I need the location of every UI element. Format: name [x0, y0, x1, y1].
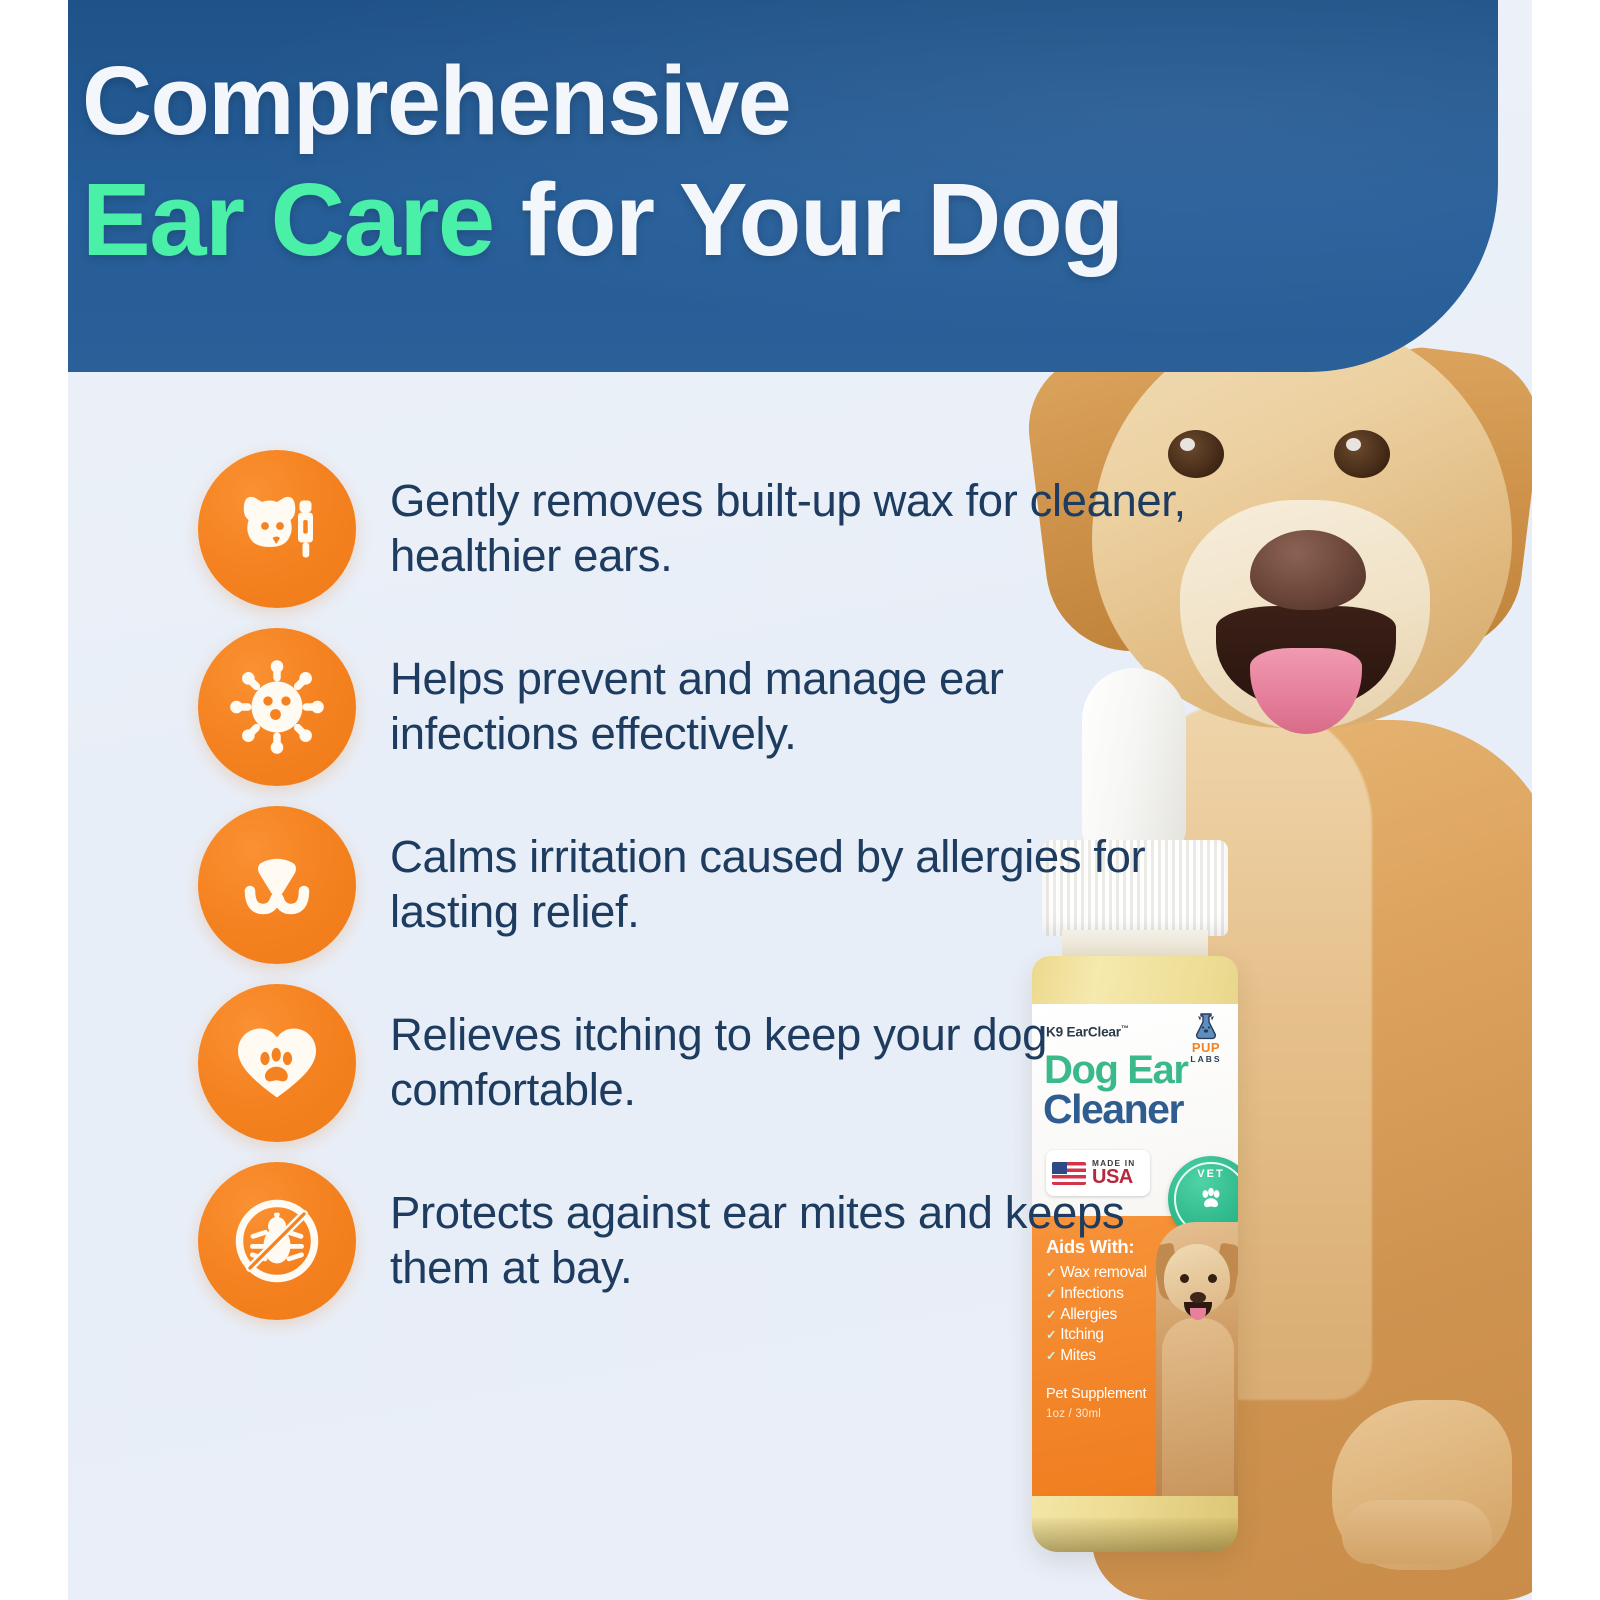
- headline-accent-text: Ear Care: [82, 162, 494, 277]
- dog-nose-icon: [198, 806, 356, 964]
- dog-dropper-glyph: [229, 481, 325, 577]
- label-dog-nose: [1190, 1292, 1206, 1303]
- heart-paw-icon: [198, 984, 356, 1142]
- no-mites-glyph: [229, 1193, 325, 1289]
- no-mites-icon: [198, 1162, 356, 1320]
- headline-line-1: Comprehensive: [82, 52, 1382, 151]
- heart-paw-glyph: [229, 1015, 325, 1111]
- dog-eye-right: [1334, 430, 1390, 478]
- pet-supplement-label: Pet Supplement: [1046, 1386, 1146, 1402]
- benefit-text: Helps prevent and manage ear infections …: [390, 652, 1186, 761]
- benefits-list: Gently removes built-up wax for cleaner,…: [136, 440, 1186, 1330]
- benefit-row: Calms irritation caused by allergies for…: [136, 796, 1186, 974]
- label-dog-body: [1162, 1318, 1234, 1496]
- benefit-row: Helps prevent and manage ear infections …: [136, 618, 1186, 796]
- pup-logo-word: PUP: [1184, 1041, 1228, 1054]
- benefit-text: Calms irritation caused by allergies for…: [390, 830, 1186, 939]
- virus-icon: [198, 628, 356, 786]
- right-margin: [1532, 0, 1600, 1600]
- flask-dog-logo-icon: [1193, 1012, 1219, 1040]
- virus-glyph: [229, 659, 325, 755]
- left-margin: [0, 0, 68, 1600]
- benefit-text: Relieves itching to keep your dog comfor…: [390, 1008, 1186, 1117]
- benefit-row: Protects against ear mites and keeps the…: [136, 1152, 1186, 1330]
- aids-item-label: Mites: [1060, 1346, 1096, 1367]
- dog-nose-glyph: [229, 837, 325, 933]
- check-icon: ✓: [1046, 1348, 1056, 1365]
- labs-logo-word: LABS: [1184, 1054, 1228, 1064]
- benefit-text: Protects against ear mites and keeps the…: [390, 1186, 1186, 1295]
- headline-line-2: Ear Care for Your Dog: [82, 167, 1382, 272]
- pup-labs-logo: PUP LABS: [1184, 1012, 1228, 1064]
- benefit-text: Gently removes built-up wax for cleaner,…: [390, 474, 1186, 583]
- dog-paw: [1332, 1400, 1512, 1570]
- benefit-row: Relieves itching to keep your dog comfor…: [136, 974, 1186, 1152]
- bottle-size-label: 1oz / 30ml: [1046, 1408, 1101, 1420]
- headline-plain-text: for Your Dog: [494, 162, 1123, 277]
- label-dog-eye-right: [1208, 1274, 1217, 1283]
- infographic-poster: K9 EarClear™ PUP: [0, 0, 1600, 1600]
- dog-dropper-icon: [198, 450, 356, 608]
- benefit-row: Gently removes built-up wax for cleaner,…: [136, 440, 1186, 618]
- headline-block: Comprehensive Ear Care for Your Dog: [82, 52, 1382, 272]
- vet-badge-top-text: VET: [1197, 1168, 1224, 1180]
- aids-item: ✓ Mites: [1046, 1346, 1164, 1367]
